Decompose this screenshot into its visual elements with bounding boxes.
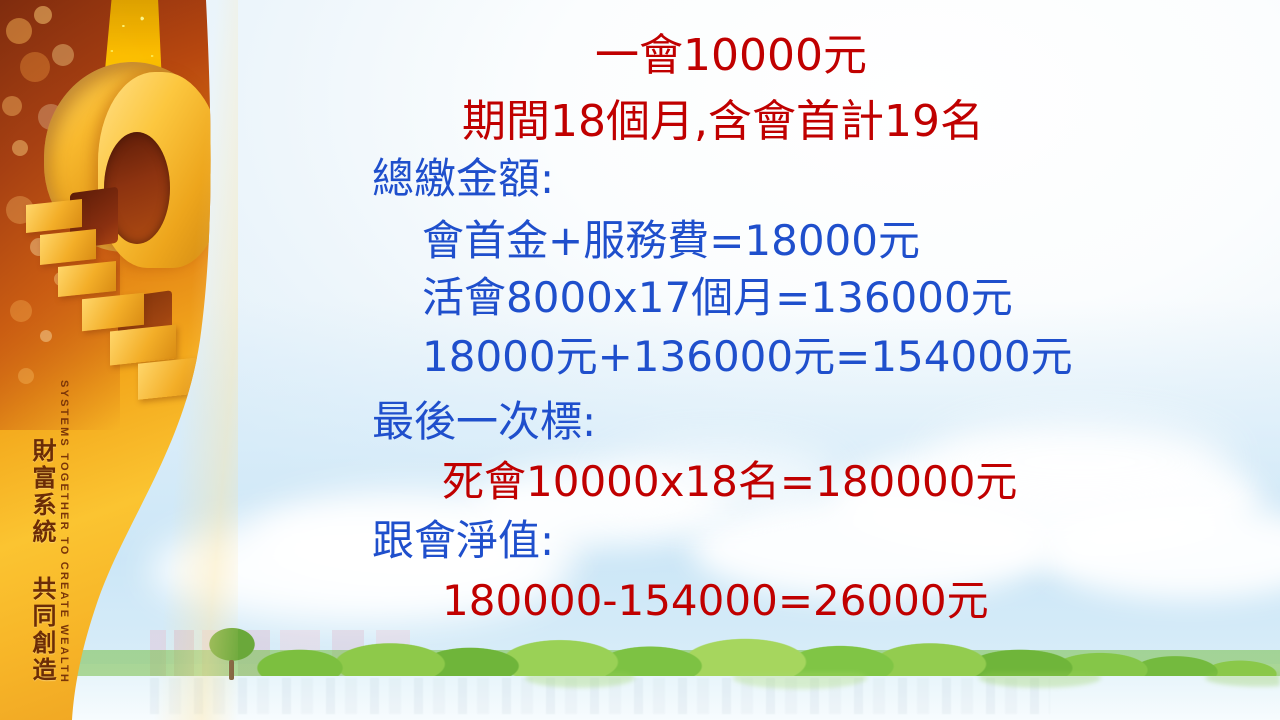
final-bid-line-1: 死會10000x18名=180000元 xyxy=(442,461,1017,503)
heading-line-1: 一會10000元 xyxy=(595,34,867,78)
total-paid-line-3: 18000元+136000元=154000元 xyxy=(422,336,1073,378)
section-label-total-paid: 總繳金額: xyxy=(372,158,554,200)
slide-text-content: 一會10000元 期間18個月,含會首計19名 總繳金額: 會首金+服務費=18… xyxy=(0,0,1280,720)
total-paid-line-1: 會首金+服務費=18000元 xyxy=(422,220,920,262)
section-label-net-value: 跟會淨值: xyxy=(372,520,554,562)
heading-line-2: 期間18個月,含會首計19名 xyxy=(462,100,984,144)
slide-canvas: 財富系統 共同創造 SYSTEMS TOGETHER TO CREATE WEA… xyxy=(0,0,1280,720)
net-value-line-1: 180000-154000=26000元 xyxy=(442,580,989,622)
total-paid-line-2: 活會8000x17個月=136000元 xyxy=(422,277,1013,319)
section-label-final-bid: 最後一次標: xyxy=(372,401,596,443)
